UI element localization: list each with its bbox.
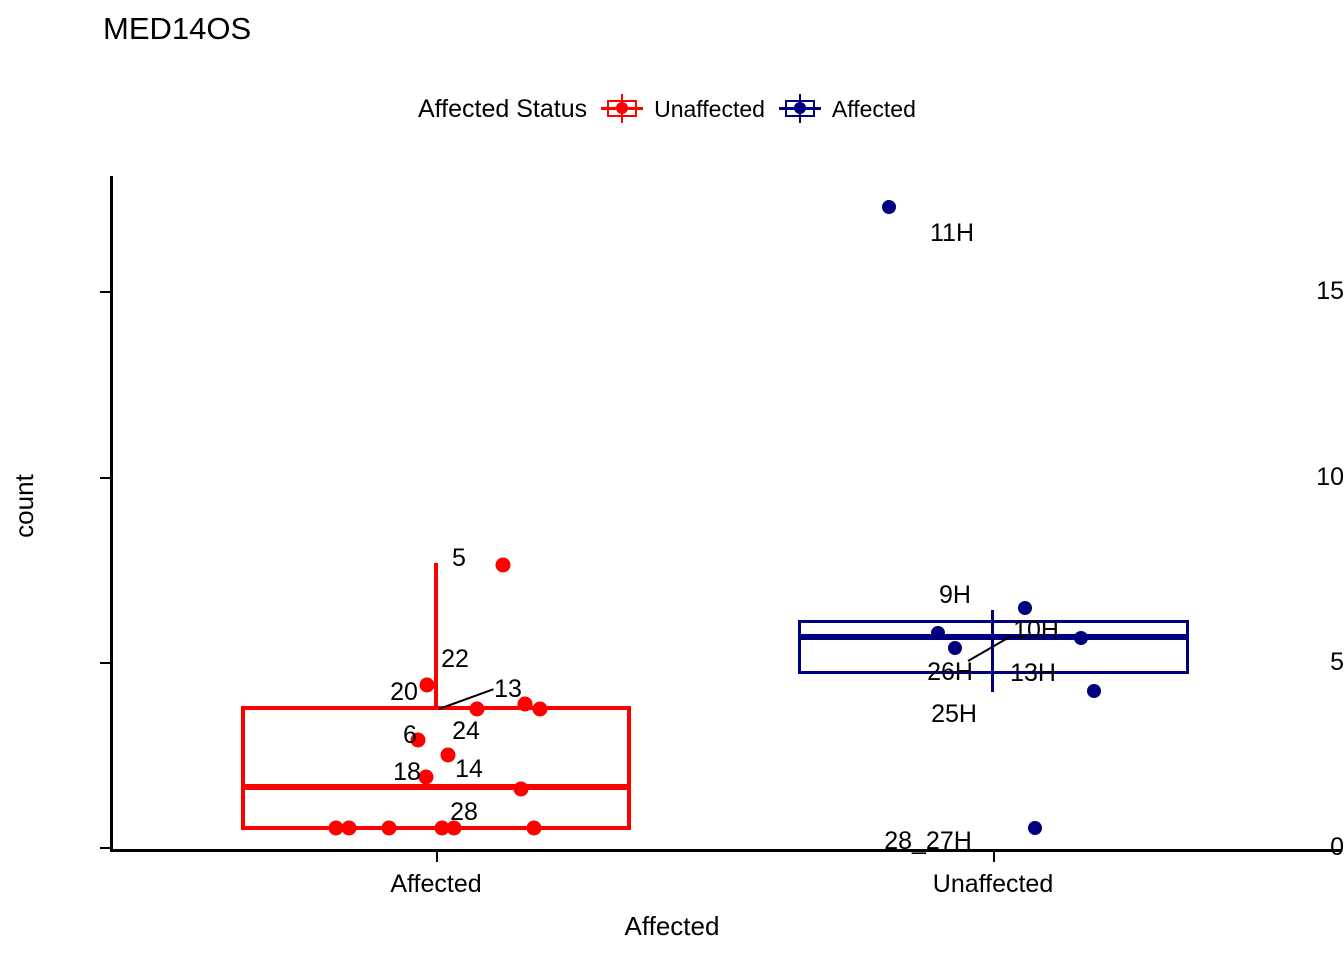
data-point[interactable] [1028,821,1042,835]
point-label: 10H [1013,615,1059,645]
y-axis-title: count [8,446,40,566]
boxplot-red-median [241,784,631,790]
data-point[interactable] [931,626,945,640]
y-tick-label-0: 0 [1252,835,1344,860]
y-tick-label-15: 15 [1252,279,1344,304]
point-label: 28 [450,797,478,827]
point-label: 20 [390,677,418,707]
plot-panel: 0 5 10 15 Affected Unaffected Affected c… [0,0,1344,960]
x-tick-label-unaffected: Unaffected [933,869,1053,899]
x-tick-unaffected [993,852,995,862]
data-point[interactable] [882,200,896,214]
data-point[interactable] [527,821,542,836]
y-tick-0 [100,847,110,849]
data-point[interactable] [496,558,511,573]
x-tick-affected [436,852,438,862]
data-point[interactable] [1074,631,1088,645]
data-point[interactable] [514,782,529,797]
point-label: 24 [452,716,480,746]
point-label: 11H [930,218,974,248]
y-axis-line [110,176,113,852]
y-tick-5 [100,662,110,664]
data-point[interactable] [533,702,548,717]
y-tick-label-10: 10 [1252,465,1344,490]
data-point[interactable] [420,678,435,693]
boxplot-navy-median [798,634,1189,640]
point-label: 5 [452,543,466,573]
boxplot-red-box [241,706,631,830]
point-label: 9H [939,580,971,610]
point-label: 13H [1010,658,1056,688]
point-label: 25H [931,699,977,729]
point-label: 18 [393,757,421,787]
point-label: 14 [455,754,483,784]
data-point[interactable] [1018,601,1032,615]
point-label: 28_27H [884,826,972,856]
point-label: 13 [494,674,522,704]
data-point[interactable] [1087,684,1101,698]
data-point[interactable] [382,821,397,836]
x-axis-title: Affected [0,910,1344,942]
y-tick-10 [100,477,110,479]
boxplot-red-upper-whisker [434,563,438,710]
point-label: 6 [403,720,417,750]
data-point[interactable] [470,702,485,717]
point-label: 22 [441,644,469,674]
data-point[interactable] [441,748,456,763]
y-tick-label-5: 5 [1252,650,1344,675]
chart-root: MED14OS Affected Status Unaffected Affec… [0,0,1344,960]
x-axis-line [110,849,1341,852]
data-point[interactable] [948,641,962,655]
data-point[interactable] [342,821,357,836]
point-label: 26H [927,657,973,687]
x-tick-label-affected: Affected [390,869,481,899]
y-tick-15 [100,291,110,293]
